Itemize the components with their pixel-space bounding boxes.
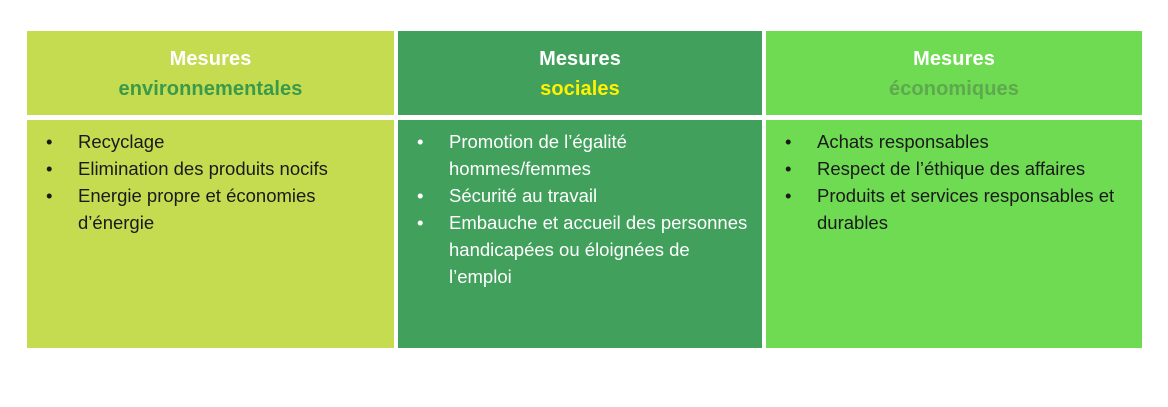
- list-item-label: Promotion de l’égalité hommes/femmes: [449, 131, 627, 179]
- list-item-label: Energie propre et économies d’énergie: [78, 185, 316, 233]
- bullet-icon: •: [785, 128, 791, 155]
- list-item: • Elimination des produits nocifs: [37, 155, 384, 182]
- bullet-icon: •: [46, 182, 52, 209]
- list-item: • Sécurité au travail: [408, 182, 752, 209]
- header-cell-economiques[interactable]: Mesures économiques: [766, 31, 1142, 115]
- bullet-list-environnementales: • Recyclage • Elimination des produits n…: [37, 128, 384, 236]
- slide-canvas: Mesures environnementales Mesures social…: [0, 0, 1168, 407]
- list-item-label: Sécurité au travail: [449, 185, 597, 206]
- list-item-label: Embauche et accueil des personnes handic…: [449, 212, 747, 287]
- header-cell-sociales[interactable]: Mesures sociales: [398, 31, 762, 115]
- header-cell-environnementales[interactable]: Mesures environnementales: [27, 31, 394, 115]
- list-item: • Achats responsables: [776, 128, 1132, 155]
- bullet-list-economiques: • Achats responsables • Respect de l’éth…: [776, 128, 1132, 236]
- bullet-icon: •: [46, 155, 52, 182]
- list-item: • Embauche et accueil des personnes hand…: [408, 209, 752, 290]
- list-item: • Produits et services responsables et d…: [776, 182, 1132, 236]
- body-cell-environnementales[interactable]: • Recyclage • Elimination des produits n…: [27, 120, 394, 348]
- header-title-line1: Mesures: [913, 44, 995, 74]
- list-item: • Promotion de l’égalité hommes/femmes: [408, 128, 752, 182]
- bullet-icon: •: [417, 209, 423, 236]
- table-body-row: • Recyclage • Elimination des produits n…: [27, 120, 1142, 348]
- bullet-icon: •: [785, 155, 791, 182]
- bullet-icon: •: [417, 182, 423, 209]
- header-title-line1: Mesures: [170, 44, 252, 74]
- list-item-label: Achats responsables: [817, 131, 989, 152]
- bullet-icon: •: [417, 128, 423, 155]
- list-item-label: Respect de l’éthique des affaires: [817, 158, 1085, 179]
- bullet-icon: •: [46, 128, 52, 155]
- header-title-line2: environnementales: [119, 74, 303, 104]
- header-title-line2: économiques: [889, 74, 1019, 104]
- header-title-line2: sociales: [540, 74, 620, 104]
- list-item-label: Recyclage: [78, 131, 164, 152]
- list-item-label: Elimination des produits nocifs: [78, 158, 328, 179]
- list-item-label: Produits et services responsables et dur…: [817, 185, 1114, 233]
- list-item: • Energie propre et économies d’énergie: [37, 182, 384, 236]
- list-item: • Recyclage: [37, 128, 384, 155]
- body-cell-economiques[interactable]: • Achats responsables • Respect de l’éth…: [766, 120, 1142, 348]
- list-item: • Respect de l’éthique des affaires: [776, 155, 1132, 182]
- bullet-list-sociales: • Promotion de l’égalité hommes/femmes •…: [408, 128, 752, 290]
- three-column-table: Mesures environnementales Mesures social…: [27, 31, 1142, 348]
- table-header-row: Mesures environnementales Mesures social…: [27, 31, 1142, 115]
- header-title-line1: Mesures: [539, 44, 621, 74]
- bullet-icon: •: [785, 182, 791, 209]
- body-cell-sociales[interactable]: • Promotion de l’égalité hommes/femmes •…: [398, 120, 762, 348]
